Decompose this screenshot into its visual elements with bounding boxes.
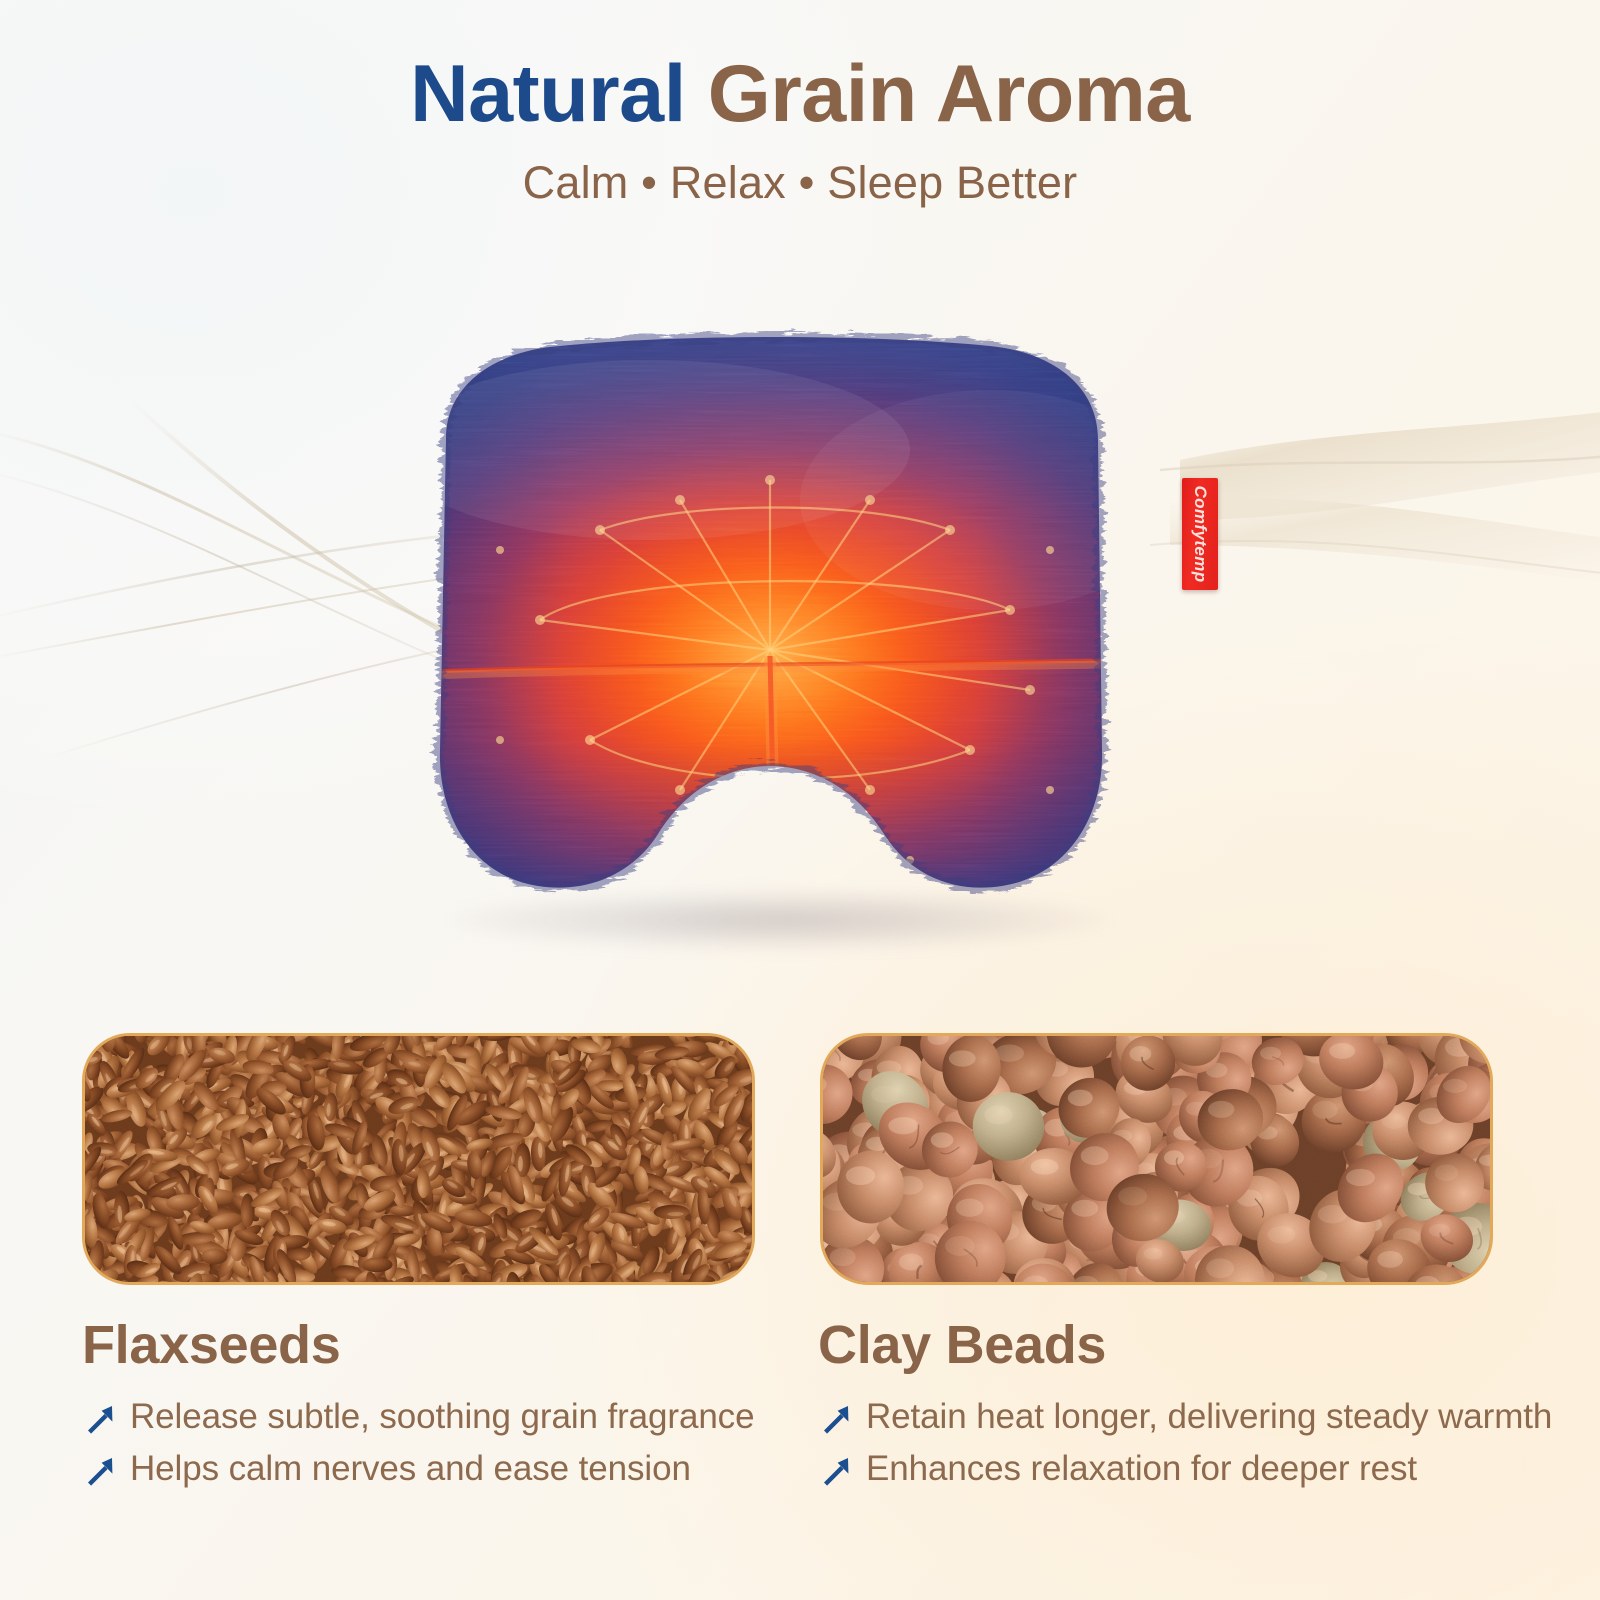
product-hero: Comfytemp — [330, 300, 1230, 1000]
page-subtitle: Calm • Relax • Sleep Better — [0, 137, 1600, 209]
list-item: Release subtle, soothing grain fragrance — [82, 1396, 802, 1448]
feature-column-clay-beads: Clay Beads Retain heat longer, deliverin… — [818, 1316, 1578, 1500]
feature-heading-clay-beads: Clay Beads — [818, 1316, 1578, 1374]
list-item-label: Helps calm nerves and ease tension — [130, 1448, 691, 1491]
heated-plush-wrap-image: Comfytemp — [350, 320, 1190, 930]
list-item-label: Enhances relaxation for deeper rest — [866, 1448, 1417, 1491]
list-item-label: Retain heat longer, delivering steady wa… — [866, 1396, 1552, 1439]
feature-heading-flaxseeds: Flaxseeds — [82, 1316, 802, 1374]
page-title-main: Grain Aroma — [708, 49, 1190, 139]
brand-tag: Comfytemp — [1182, 478, 1218, 590]
page-title-highlight: Natural — [410, 49, 708, 139]
list-item-label: Release subtle, soothing grain fragrance — [130, 1396, 754, 1439]
clay-beads-panel — [820, 1033, 1493, 1285]
list-item: Enhances relaxation for deeper rest — [818, 1448, 1578, 1500]
list-item: Helps calm nerves and ease tension — [82, 1448, 802, 1500]
flaxseeds-panel — [82, 1033, 755, 1285]
arrow-up-right-icon — [82, 1454, 116, 1488]
product-infographic: Natural Grain Aroma Calm • Relax • Sleep… — [0, 0, 1600, 1600]
arrow-up-right-icon — [82, 1402, 116, 1436]
header: Natural Grain Aroma Calm • Relax • Sleep… — [0, 0, 1600, 209]
page-title: Natural Grain Aroma — [0, 0, 1600, 137]
arrow-up-right-icon — [818, 1454, 852, 1488]
list-item: Retain heat longer, delivering steady wa… — [818, 1396, 1578, 1448]
brand-tag-label: Comfytemp — [1190, 485, 1210, 582]
feature-bullets-clay-beads: Retain heat longer, delivering steady wa… — [818, 1374, 1578, 1499]
ingredient-panels — [0, 1033, 1600, 1289]
feature-column-flaxseeds: Flaxseeds Release subtle, soothing grain… — [82, 1316, 802, 1500]
feature-bullets-flaxseeds: Release subtle, soothing grain fragrance… — [82, 1374, 802, 1499]
arrow-up-right-icon — [818, 1402, 852, 1436]
